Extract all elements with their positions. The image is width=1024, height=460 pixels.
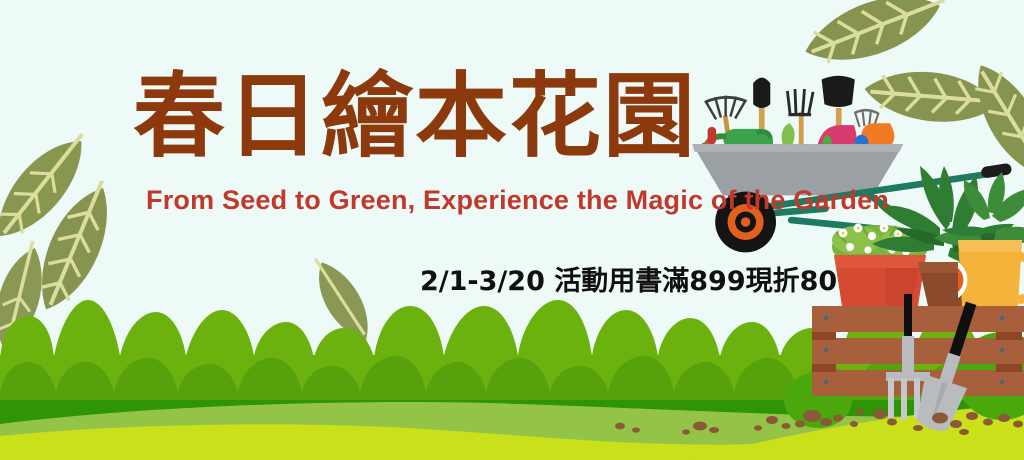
page-subtitle: From Seed to Green, Experience the Magic…: [146, 185, 889, 215]
promo-text: 2/1-3/20 活動用書滿899現折80: [420, 266, 837, 297]
page-title: 春日繪本花園: [133, 69, 697, 165]
spring-garden-promo-banner: 春日繪本花園 From Seed to Green, Experience th…: [0, 0, 1024, 460]
